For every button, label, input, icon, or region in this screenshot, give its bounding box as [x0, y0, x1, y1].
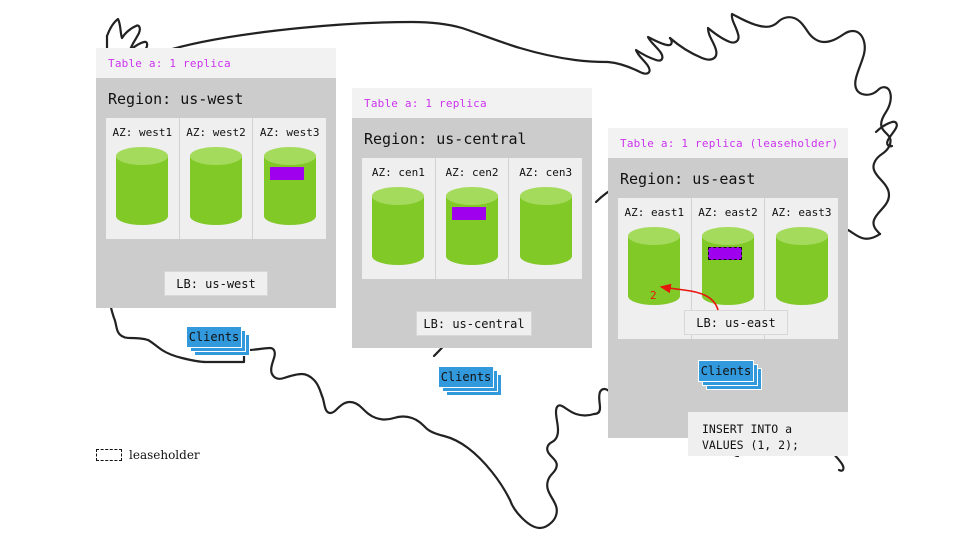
az-label: AZ: cen2 [436, 166, 509, 179]
arrow-step-label: 2 [650, 289, 657, 302]
az-cell-cen3[interactable]: AZ: cen3 [508, 158, 582, 279]
az-label: AZ: east2 [692, 206, 765, 219]
cylinder-body [116, 156, 168, 216]
region-title: Region: us-east [608, 158, 848, 198]
cylinder-top [702, 227, 754, 245]
az-cell-cen2[interactable]: AZ: cen2 [435, 158, 509, 279]
load-balancer-us-central[interactable]: LB: us-central [416, 311, 532, 336]
az-cell-cen1[interactable]: AZ: cen1 [362, 158, 435, 279]
clients-stack-layer-1[interactable]: Clients [438, 366, 494, 388]
node-cylinder-west1 [116, 147, 168, 225]
clients-stack-layer-1[interactable]: Clients [186, 326, 242, 348]
replica-bar-cen2 [452, 207, 486, 220]
az-label: AZ: cen1 [362, 166, 435, 179]
legend: leaseholder [96, 448, 200, 462]
load-balancer-us-east[interactable]: LB: us-east [684, 310, 788, 335]
diagram-canvas: Table a: 1 replica Region: us-west AZ: w… [0, 0, 960, 540]
node-cylinder-east3 [776, 227, 828, 305]
region-card-us-central: Table a: 1 replica Region: us-central AZ… [352, 88, 592, 348]
lb-label: LB: us-east [696, 316, 775, 330]
cylinder-body [776, 236, 828, 296]
az-cell-west3[interactable]: AZ: west3 [252, 118, 326, 239]
region-title: Region: us-central [352, 118, 592, 158]
clients-label: Clients [441, 370, 492, 384]
clients-stack-layer-1[interactable]: Clients [698, 360, 754, 382]
az-strip: AZ: cen1 AZ: cen2 [362, 158, 582, 279]
sql-statement-box: INSERT INTO a VALUES (1, 2); [688, 412, 848, 456]
cylinder-body [372, 196, 424, 256]
az-label: AZ: west1 [106, 126, 179, 139]
cylinder-top [628, 227, 680, 245]
az-label: AZ: west2 [180, 126, 253, 139]
az-label: AZ: east1 [618, 206, 691, 219]
region-card-us-east: Table a: 1 replica (leaseholder) Region:… [608, 128, 848, 438]
az-cell-east1[interactable]: AZ: east1 [618, 198, 691, 339]
cylinder-top [190, 147, 242, 165]
node-cylinder-cen2 [446, 187, 498, 265]
cylinder-top [446, 187, 498, 205]
az-label: AZ: cen3 [509, 166, 582, 179]
cylinder-body [702, 236, 754, 296]
legend-label: leaseholder [129, 448, 200, 462]
replica-bar-east2-leaseholder [708, 247, 742, 260]
az-cell-west1[interactable]: AZ: west1 [106, 118, 179, 239]
az-label: AZ: west3 [253, 126, 326, 139]
cylinder-top [776, 227, 828, 245]
cylinder-top [520, 187, 572, 205]
clients-button-us-west[interactable]: Clients [186, 326, 252, 356]
lb-label: LB: us-central [423, 317, 524, 331]
table-replica-banner: Table a: 1 replica [352, 88, 592, 118]
cylinder-body [520, 196, 572, 256]
node-cylinder-cen3 [520, 187, 572, 265]
clients-button-us-east[interactable]: Clients [698, 360, 764, 390]
clients-label: Clients [701, 364, 752, 378]
cylinder-top [116, 147, 168, 165]
az-strip: AZ: west1 AZ: west2 [106, 118, 326, 239]
node-cylinder-west3 [264, 147, 316, 225]
region-title: Region: us-west [96, 78, 336, 118]
region-card-us-west: Table a: 1 replica Region: us-west AZ: w… [96, 48, 336, 308]
cylinder-body [264, 156, 316, 216]
table-replica-banner: Table a: 1 replica (leaseholder) [608, 128, 848, 158]
node-cylinder-west2 [190, 147, 242, 225]
az-label: AZ: east3 [765, 206, 838, 219]
cylinder-body [628, 236, 680, 296]
table-replica-banner: Table a: 1 replica [96, 48, 336, 78]
leaseholder-swatch-icon [96, 449, 122, 461]
node-cylinder-east2 [702, 227, 754, 305]
clients-label: Clients [189, 330, 240, 344]
lb-label: LB: us-west [176, 277, 255, 291]
node-cylinder-cen1 [372, 187, 424, 265]
cylinder-top [372, 187, 424, 205]
cylinder-body [190, 156, 242, 216]
replica-bar-west3 [270, 167, 304, 180]
cylinder-body [446, 196, 498, 256]
az-cell-west2[interactable]: AZ: west2 [179, 118, 253, 239]
cylinder-top [264, 147, 316, 165]
load-balancer-us-west[interactable]: LB: us-west [164, 271, 268, 296]
clients-button-us-central[interactable]: Clients [438, 366, 504, 396]
